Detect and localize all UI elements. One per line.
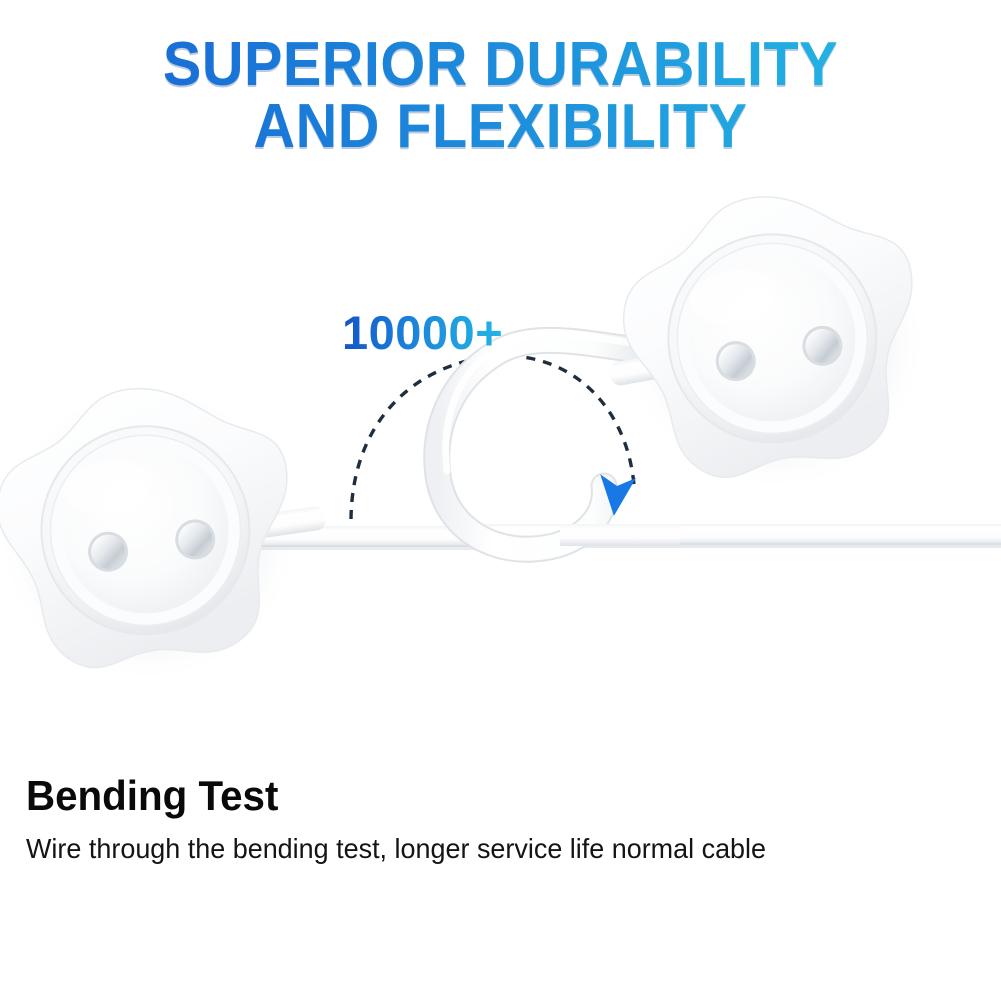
headline-line-1: SUPERIOR DURABILITY [35,34,966,96]
right-charger [584,173,940,495]
left-charger [0,365,342,679]
headline: SUPERIOR DURABILITY AND FLEXIBILITY [0,34,1001,158]
cable-loop-tail [560,524,680,546]
product-feature-image: SUPERIOR DURABILITY AND FLEXIBILITY SUPE… [0,0,1001,1001]
caption-title: Bending Test [26,772,278,820]
headline-line-2: AND FLEXIBILITY [35,96,966,158]
cycle-count-label: 10000+ [342,308,503,358]
caption-subtitle: Wire through the bending test, longer se… [26,832,766,866]
